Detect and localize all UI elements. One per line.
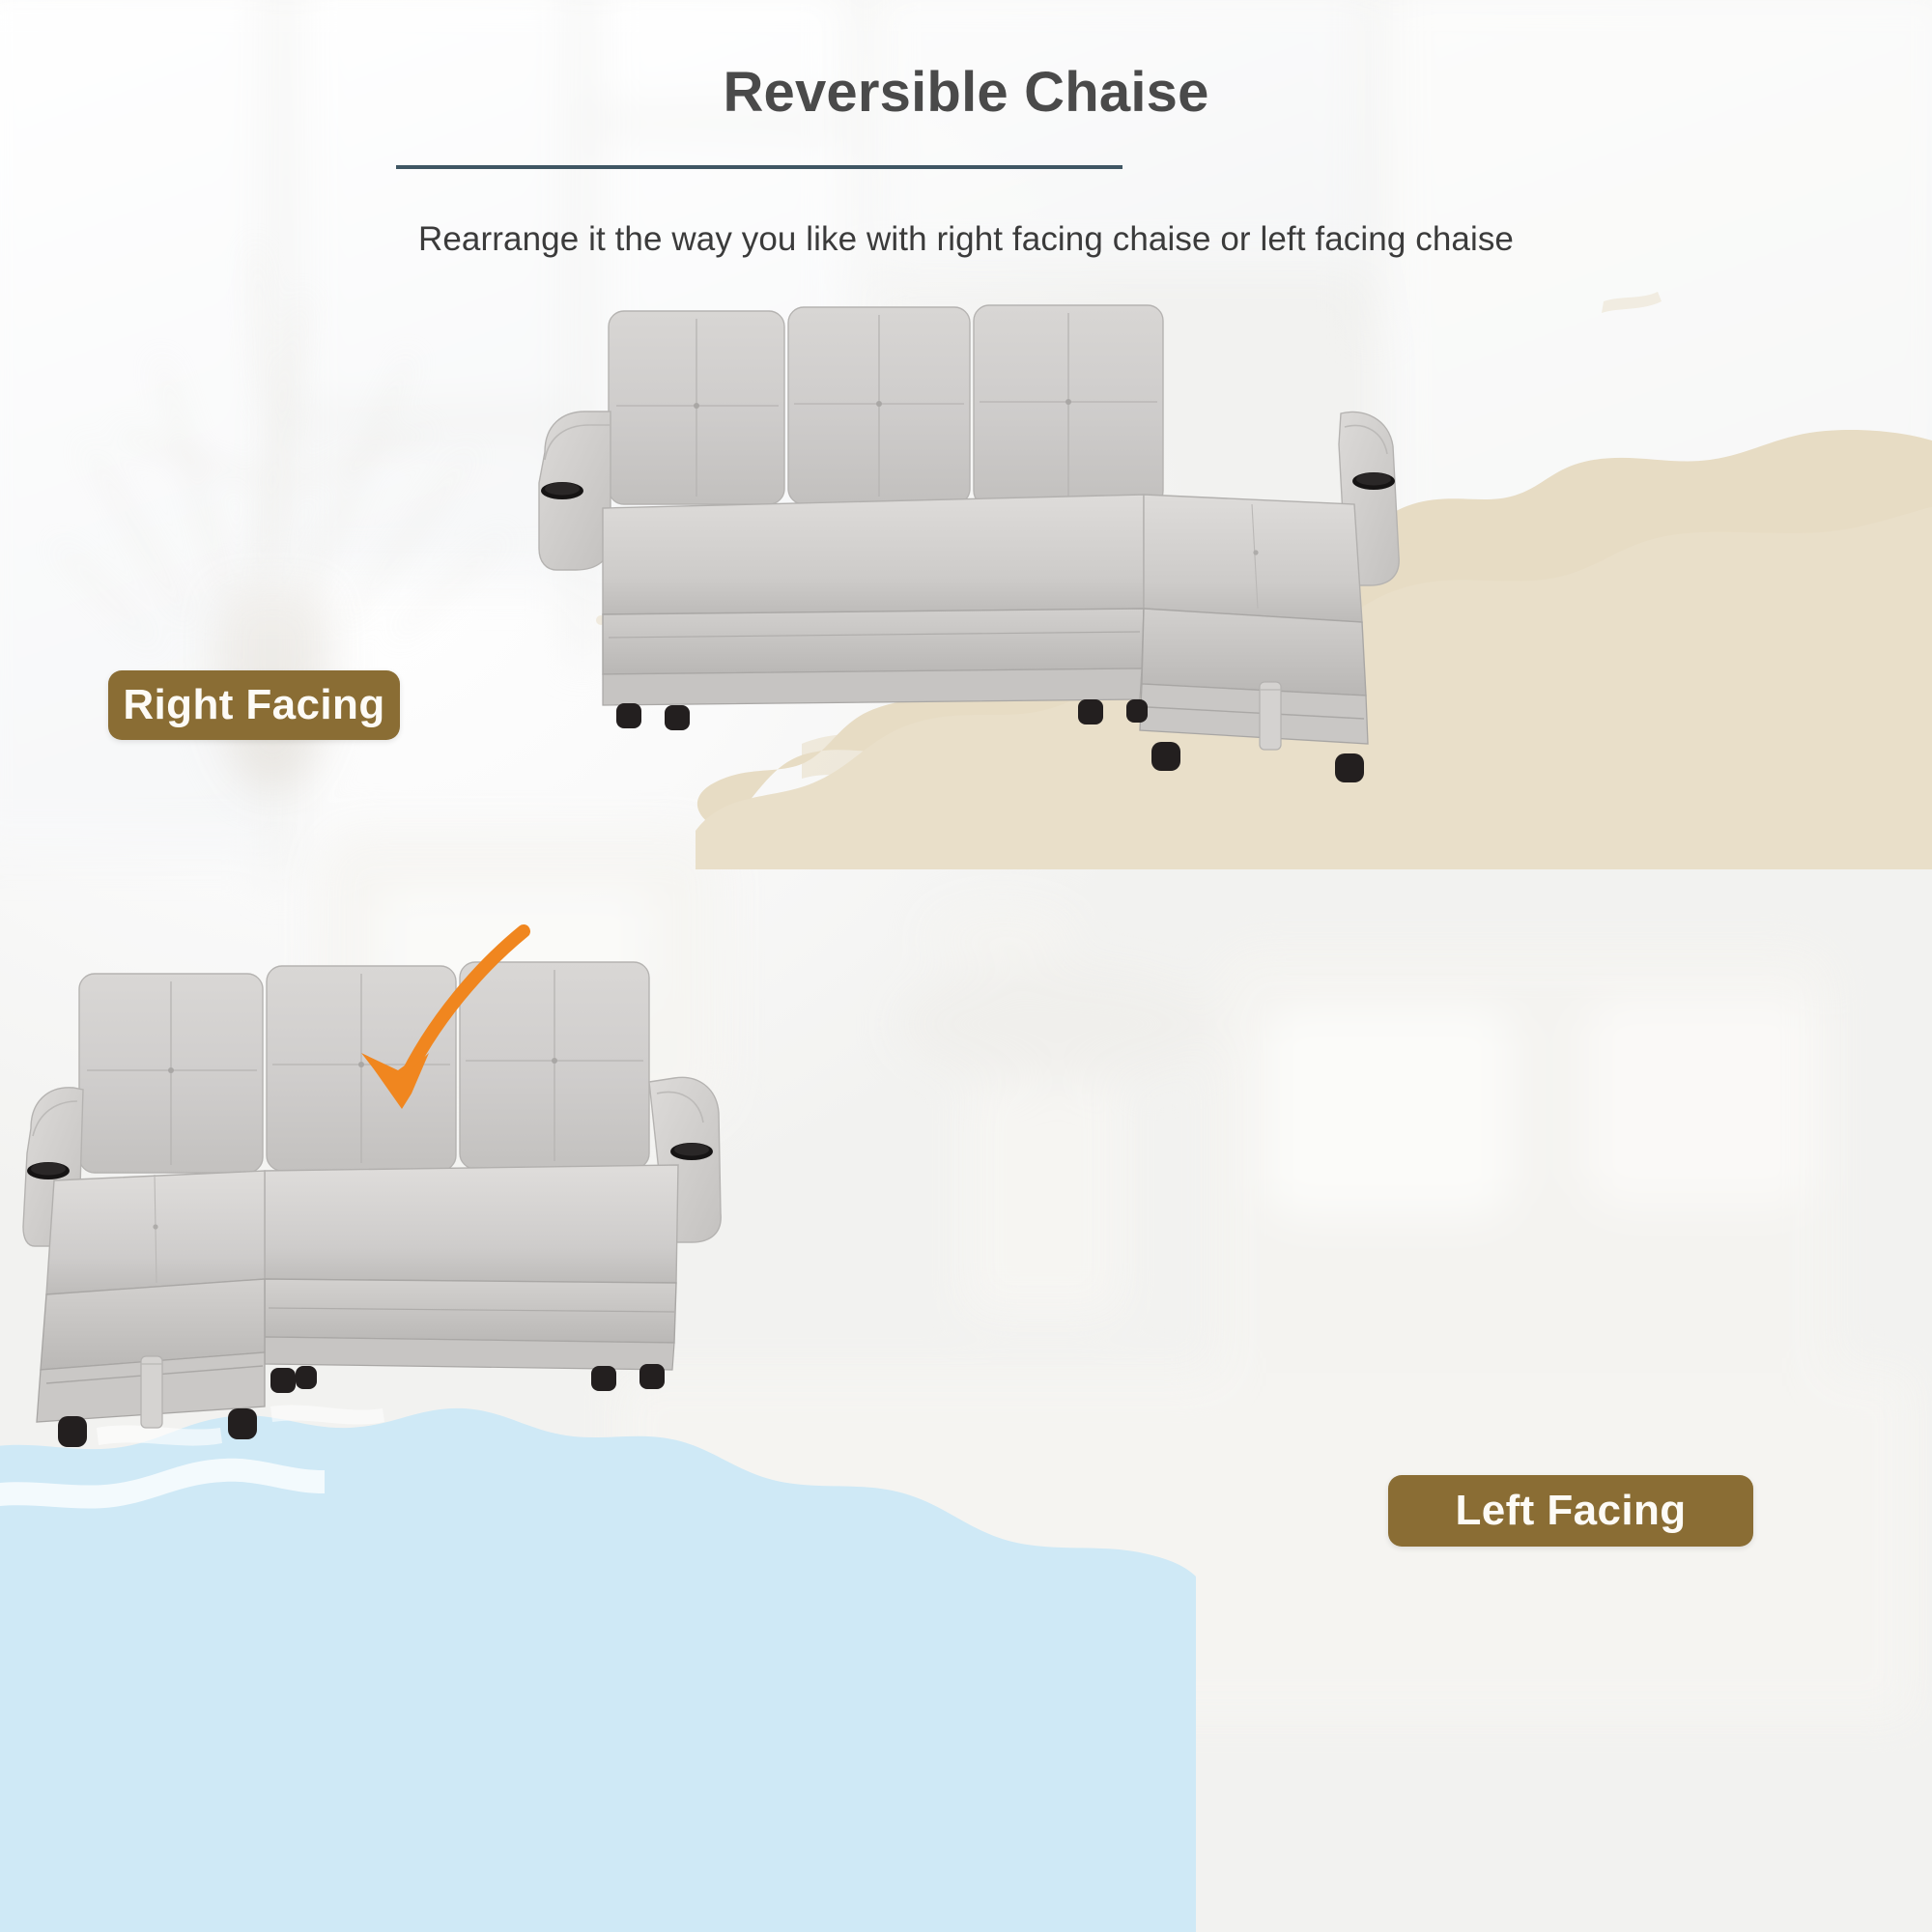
pull-strap-icon [141,1356,162,1428]
badge-left-facing: Left Facing [1388,1475,1753,1547]
seat-section [603,495,1144,705]
curved-down-arrow-icon [319,916,541,1157]
marketing-banner: Reversible Chaise Rearrange it the way y… [0,0,1932,1932]
page-subtitle: Rearrange it the way you like with right… [0,220,1932,259]
left-armrest [539,412,611,570]
seat-section [265,1165,678,1370]
title-divider [396,165,1122,169]
page-title: Reversible Chaise [0,60,1932,125]
sofa-right-facing [502,290,1488,831]
chaise-section [1140,495,1368,750]
back-cushions [609,305,1163,506]
badge-right-facing: Right Facing [108,670,400,740]
pull-strap-icon [1260,682,1281,750]
chaise-section [37,1171,265,1428]
